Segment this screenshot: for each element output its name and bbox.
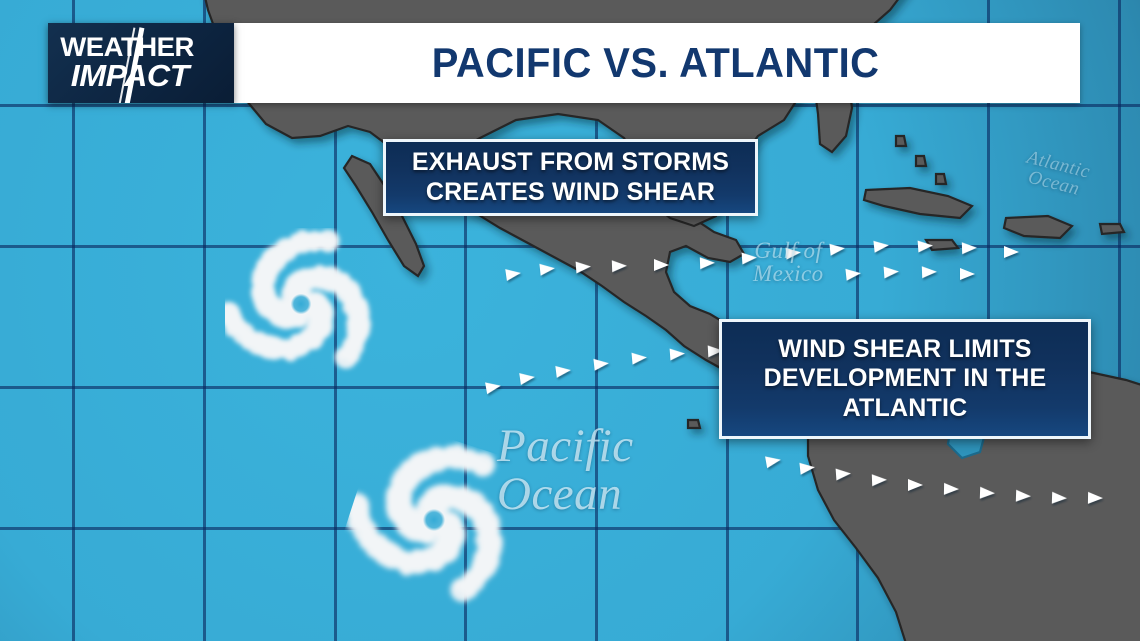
logo-line-impact: IMPACT (71, 61, 234, 91)
callout-shear-text: WIND SHEAR LIMITS DEVELOPMENT IN THE ATL… (764, 335, 1047, 424)
callout-wind-shear-limits: WIND SHEAR LIMITS DEVELOPMENT IN THE ATL… (719, 319, 1091, 439)
title-bar: PACIFIC VS. ATLANTIC (232, 23, 1080, 103)
weather-impact-logo: WEATHER IMPACT (48, 23, 234, 103)
weather-graphic: Pacific Ocean Gulf of Mexico Atlantic Oc… (0, 0, 1140, 641)
page-title: PACIFIC VS. ATLANTIC (432, 39, 880, 87)
callout-exhaust-from-storms: EXHAUST FROM STORMS CREATES WIND SHEAR (383, 139, 758, 216)
callout-exhaust-text: EXHAUST FROM STORMS CREATES WIND SHEAR (412, 148, 729, 207)
